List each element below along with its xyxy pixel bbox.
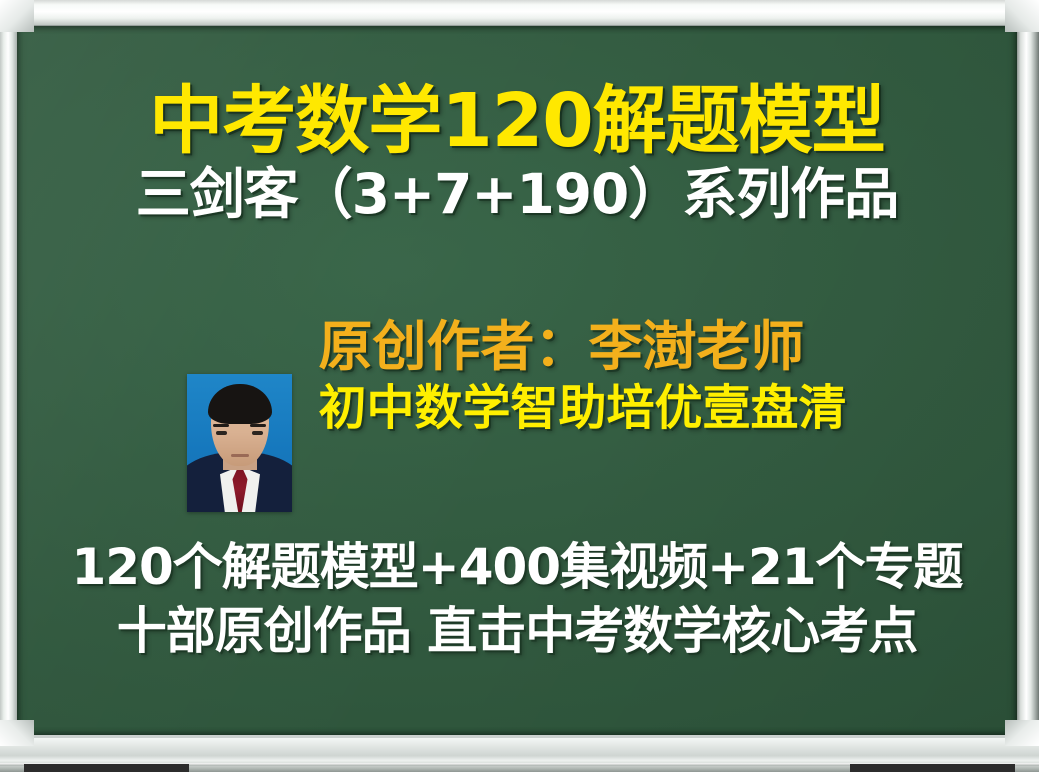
title-block: 中考数学120解题模型 三剑客（3+7+190）系列作品: [17, 84, 1017, 225]
author-text-group: 原创作者：李澍老师 初中数学智助培优壹盘清: [318, 316, 846, 436]
author-tagline: 初中数学智助培优壹盘清: [318, 381, 846, 437]
footer-line-slogan: 十部原创作品 直击中考数学核心考点: [17, 599, 1017, 663]
portrait-mouth: [231, 454, 249, 457]
frame-rail-left: [0, 0, 17, 772]
slide-root: 中考数学120解题模型 三剑客（3+7+190）系列作品: [0, 0, 1039, 772]
portrait-brow-left: [213, 424, 229, 427]
frame-rail-right: [1017, 0, 1039, 772]
chalkboard-surface: 中考数学120解题模型 三剑客（3+7+190）系列作品: [17, 26, 1017, 735]
page-subtitle: 三剑客（3+7+190）系列作品: [17, 165, 1017, 224]
author-block: 原创作者：李澍老师 初中数学智助培优壹盘清: [17, 316, 1017, 512]
chalk-tray-foot-right: [850, 764, 1015, 772]
portrait-eye-right: [252, 431, 263, 435]
page-title: 中考数学120解题模型: [17, 84, 1017, 159]
footer-line-contents: 120个解题模型+400集视频+21个专题: [17, 535, 1017, 599]
frame-rail-top: [0, 0, 1039, 26]
chalk-tray-foot-left: [24, 764, 189, 772]
board-content: 中考数学120解题模型 三剑客（3+7+190）系列作品: [17, 26, 1017, 735]
frame-corner-top-left: [0, 0, 34, 32]
frame-corner-bottom-left: [0, 720, 34, 746]
footer-block: 120个解题模型+400集视频+21个专题 十部原创作品 直击中考数学核心考点: [17, 535, 1017, 663]
portrait-brow-right: [250, 424, 266, 427]
avatar: [187, 374, 292, 512]
author-name-line: 原创作者：李澍老师: [318, 316, 846, 379]
portrait-hair-shape: [208, 384, 272, 424]
portrait-eye-left: [216, 431, 227, 435]
frame-corner-top-right: [1005, 0, 1039, 32]
chalkboard-frame: 中考数学120解题模型 三剑客（3+7+190）系列作品: [0, 0, 1039, 772]
frame-corner-bottom-right: [1005, 720, 1039, 746]
